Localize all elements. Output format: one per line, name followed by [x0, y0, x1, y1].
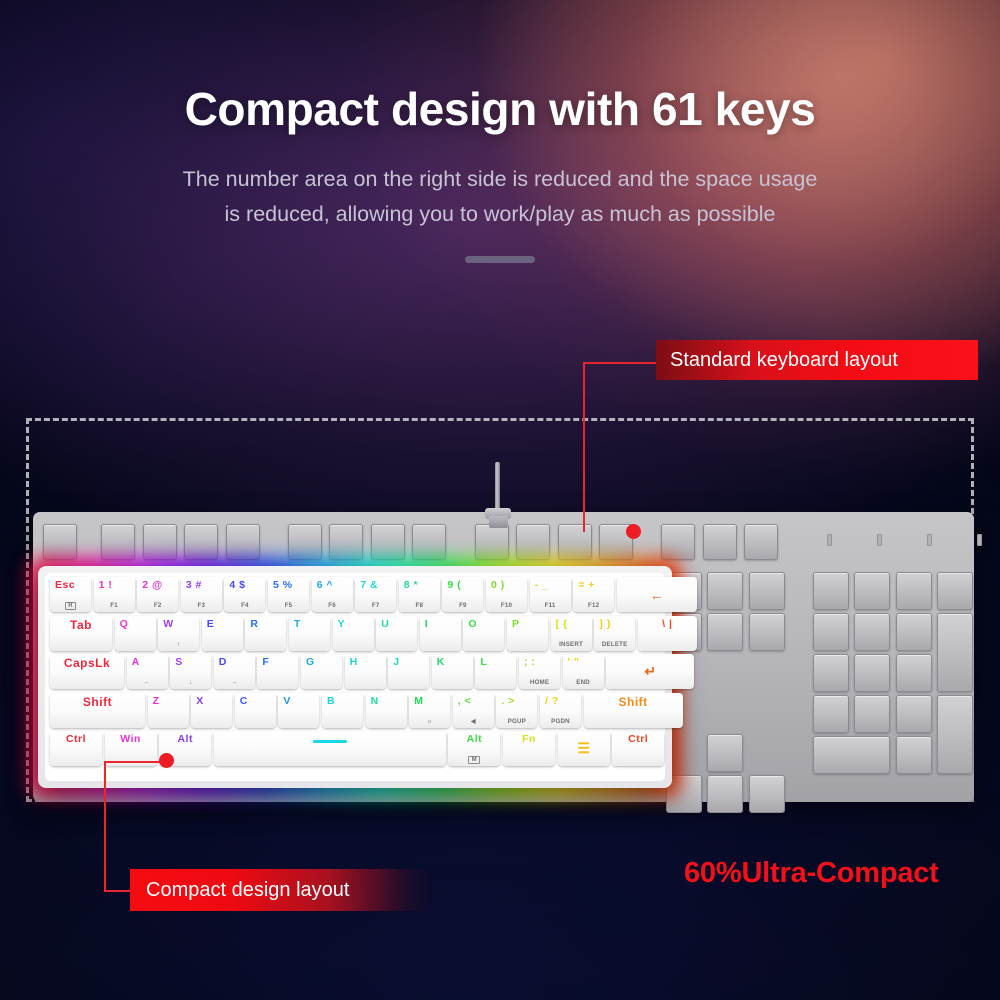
- fullsize-numpad-key: [813, 695, 849, 733]
- key-p[interactable]: P: [507, 616, 548, 651]
- key-legend: Fn: [503, 734, 555, 745]
- fullsize-numpad-key: [937, 695, 973, 774]
- key-d[interactable]: D→: [214, 654, 255, 689]
- page-title: Compact design with 61 keys: [0, 82, 1000, 136]
- spacebar-indicator: [313, 740, 347, 743]
- key-space[interactable]: ☰: [558, 731, 610, 766]
- key-sublegend: R: [50, 602, 91, 610]
- key-o[interactable]: O: [463, 616, 504, 651]
- key-6[interactable]: 6 ^F6: [312, 577, 353, 612]
- compact-keyboard-plate: EscR1 !F12 @F23 #F34 $F45 %F56 ^F67 &F78…: [45, 573, 665, 781]
- fullsize-numpad-key: [813, 736, 891, 774]
- key-f[interactable]: F: [257, 654, 298, 689]
- key-legend: Z: [153, 696, 160, 707]
- key-legend: Tab: [50, 619, 112, 632]
- subtitle-line-1: The number area on the right side is red…: [0, 162, 1000, 197]
- key-sublegend: HOME: [519, 679, 560, 686]
- leader-line-standard-horizontal: [583, 362, 657, 364]
- indicator-led: [977, 534, 982, 546]
- fullsize-numpad-key: [854, 654, 890, 692]
- key-capslk[interactable]: CapsLk: [50, 654, 124, 689]
- fullsize-nav-key: [749, 572, 785, 610]
- key-legend: N: [371, 696, 379, 707]
- callout-standard-keyboard-layout[interactable]: Standard keyboard layout: [656, 340, 978, 380]
- key-legend: P: [512, 619, 520, 630]
- fullsize-key: [412, 524, 446, 560]
- key-legend: X: [196, 696, 204, 707]
- leader-line-standard-vertical: [583, 362, 585, 532]
- fullsize-numpad-key: [854, 572, 890, 610]
- key-s[interactable]: S↓: [170, 654, 211, 689]
- key-legend: J: [393, 657, 399, 668]
- key-sublegend: INSERT: [551, 641, 592, 648]
- key-3[interactable]: 3 #F3: [181, 577, 222, 612]
- divider-pill: [465, 256, 535, 263]
- fullsize-key: [143, 524, 177, 560]
- leader-line-compact-vertical: [104, 761, 106, 892]
- key-space[interactable]: ↵: [606, 654, 694, 689]
- key-v[interactable]: V: [278, 693, 319, 728]
- header: Compact design with 61 keys The number a…: [0, 0, 1000, 263]
- fullsize-key: [184, 524, 218, 560]
- key-legend: 8 *: [404, 580, 418, 591]
- fullsize-numpad-key: [813, 613, 849, 651]
- key-e[interactable]: E: [202, 616, 243, 651]
- fullsize-numpad-key: [813, 654, 849, 692]
- fullsize-key: [558, 524, 592, 560]
- marker-dot-standard: [626, 524, 641, 539]
- key-legend: Ctrl: [612, 734, 664, 745]
- fullsize-key: [101, 524, 135, 560]
- key-sublegend: F11: [530, 602, 571, 609]
- key-u[interactable]: U: [376, 616, 417, 651]
- key-space[interactable]: [ {INSERT: [551, 616, 592, 651]
- key-legend: CapsLk: [50, 657, 124, 670]
- key-legend: [ {: [556, 619, 568, 630]
- key-space[interactable]: - _F11: [530, 577, 571, 612]
- key-fn[interactable]: Fn: [503, 731, 555, 766]
- key-w[interactable]: W↑: [158, 616, 199, 651]
- key-space[interactable]: \ |: [638, 616, 697, 651]
- key-0[interactable]: 0 )F10: [486, 577, 527, 612]
- key-m[interactable]: M☼: [409, 693, 450, 728]
- fullsize-key: [703, 524, 737, 560]
- key-space[interactable]: = +F12: [573, 577, 614, 612]
- key-n[interactable]: N: [366, 693, 407, 728]
- fullsize-nav-key: [707, 613, 743, 651]
- key-glyph: ↵: [606, 654, 694, 689]
- key-j[interactable]: J: [388, 654, 429, 689]
- key-legend: Shift: [584, 696, 683, 709]
- key-legend: I: [425, 619, 428, 630]
- marker-dot-compact: [159, 753, 174, 768]
- key-esc[interactable]: EscR: [50, 577, 91, 612]
- key-glyph: ☰: [558, 731, 610, 766]
- fullsize-nav-key: [707, 572, 743, 610]
- fullsize-numpad-key: [813, 572, 849, 610]
- key-legend: F: [262, 657, 269, 668]
- key-space[interactable]: ' "END: [563, 654, 604, 689]
- fullsize-nav-key: [749, 775, 785, 813]
- key-x[interactable]: X: [191, 693, 232, 728]
- fullsize-numpad-key: [896, 572, 932, 610]
- key-ctrl[interactable]: Ctrl: [50, 731, 102, 766]
- key-legend: S: [175, 657, 183, 668]
- leader-line-compact-horizontal-top: [104, 761, 166, 763]
- key-t[interactable]: T: [289, 616, 330, 651]
- key-sublegend: DELETE: [594, 641, 635, 648]
- key-legend: Win: [105, 734, 157, 745]
- key-legend: Shift: [50, 696, 145, 709]
- key-sublegend: F8: [399, 602, 440, 609]
- key-legend: \ |: [638, 619, 697, 630]
- key-legend: = +: [578, 580, 595, 591]
- key-legend: V: [283, 696, 291, 707]
- key-sublegend: ←: [127, 679, 168, 686]
- key-legend: E: [207, 619, 215, 630]
- key-legend: M: [414, 696, 423, 707]
- fullsize-nav-key: [707, 734, 743, 772]
- indicator-led: [827, 534, 832, 546]
- key-legend: C: [240, 696, 248, 707]
- key-ctrl[interactable]: Ctrl: [612, 731, 664, 766]
- key-sublegend: M: [448, 756, 500, 764]
- key-4[interactable]: 4 $F4: [224, 577, 265, 612]
- key-legend: Q: [120, 619, 129, 630]
- key-l[interactable]: L: [475, 654, 516, 689]
- subtitle: The number area on the right side is red…: [0, 162, 1000, 232]
- key-legend: ' ": [568, 657, 580, 668]
- key-1[interactable]: 1 !F1: [94, 577, 135, 612]
- key-sublegend: F5: [268, 602, 309, 609]
- fullsize-key: [288, 524, 322, 560]
- key-glyph: ←: [617, 577, 697, 612]
- key-legend: Y: [338, 619, 346, 630]
- key-y[interactable]: Y: [333, 616, 374, 651]
- key-legend: K: [437, 657, 445, 668]
- fullsize-key: [475, 524, 509, 560]
- fullsize-key: [371, 524, 405, 560]
- key-legend: W: [163, 619, 173, 630]
- key-8[interactable]: 8 *F8: [399, 577, 440, 612]
- key-legend: . >: [501, 696, 514, 707]
- fullsize-numpad-key: [896, 613, 932, 651]
- fullsize-key: [43, 524, 77, 560]
- key-sublegend: PGDN: [540, 718, 581, 725]
- key-a[interactable]: A←: [127, 654, 168, 689]
- key-sublegend: F4: [224, 602, 265, 609]
- indicator-led: [927, 534, 932, 546]
- key-legend: D: [219, 657, 227, 668]
- key-sublegend: F12: [573, 602, 614, 609]
- key-alt[interactable]: AltM: [448, 731, 500, 766]
- key-legend: - _: [535, 580, 549, 591]
- fullsize-key: [226, 524, 260, 560]
- key-2[interactable]: 2 @F2: [137, 577, 178, 612]
- indicator-led: [877, 534, 882, 546]
- key-legend: 9 (: [447, 580, 461, 591]
- key-legend: / ?: [545, 696, 559, 707]
- key-legend: 7 &: [360, 580, 378, 591]
- fullsize-nav-key: [749, 613, 785, 651]
- key-sublegend: F9: [442, 602, 483, 609]
- key-z[interactable]: Z: [148, 693, 189, 728]
- fullsize-numpad-key: [937, 613, 973, 692]
- key-sublegend: END: [563, 679, 604, 686]
- key-legend: 4 $: [229, 580, 245, 591]
- key-sublegend: F3: [181, 602, 222, 609]
- key-legend: R: [250, 619, 258, 630]
- key-sublegend: ↑: [158, 641, 199, 648]
- key-sublegend: ↓: [170, 679, 211, 686]
- key-legend: 0 ): [491, 580, 505, 591]
- key-legend: O: [468, 619, 477, 630]
- key-legend: Ctrl: [50, 734, 102, 745]
- subtitle-line-2: is reduced, allowing you to work/play as…: [0, 197, 1000, 232]
- key-legend: 5 %: [273, 580, 293, 591]
- key-legend: Alt: [448, 734, 500, 745]
- key-sublegend: PGUP: [496, 718, 537, 725]
- fullsize-key: [661, 524, 695, 560]
- key-h[interactable]: H: [345, 654, 386, 689]
- key-g[interactable]: G: [301, 654, 342, 689]
- key-legend: H: [350, 657, 358, 668]
- fullsize-key: [744, 524, 778, 560]
- ultra-compact-tagline: 60%Ultra-Compact: [684, 857, 939, 890]
- key-legend: Esc: [55, 580, 75, 591]
- key-k[interactable]: K: [432, 654, 473, 689]
- key-legend: , <: [458, 696, 471, 707]
- key-7[interactable]: 7 &F7: [355, 577, 396, 612]
- key-legend: U: [381, 619, 389, 630]
- key-legend: B: [327, 696, 335, 707]
- key-r[interactable]: R: [245, 616, 286, 651]
- key-tab[interactable]: Tab: [50, 616, 112, 651]
- key-space[interactable]: ] }DELETE: [594, 616, 635, 651]
- key-legend: T: [294, 619, 301, 630]
- key-sublegend: F7: [355, 602, 396, 609]
- key-legend: Alt: [159, 734, 211, 745]
- key-legend: 6 ^: [317, 580, 333, 591]
- fullsize-nav-key: [707, 775, 743, 813]
- key-space[interactable]: [214, 731, 446, 766]
- fullsize-key: [516, 524, 550, 560]
- fullsize-key: [329, 524, 363, 560]
- key-sublegend: →: [214, 679, 255, 686]
- fullsize-numpad-key: [854, 695, 890, 733]
- key-i[interactable]: I: [420, 616, 461, 651]
- key-space[interactable]: ←: [617, 577, 697, 612]
- key-b[interactable]: B: [322, 693, 363, 728]
- callout-compact-design-layout[interactable]: Compact design layout: [130, 869, 430, 911]
- key-legend: L: [480, 657, 487, 668]
- key-legend: ; :: [524, 657, 535, 668]
- callout-standard-label: Standard keyboard layout: [670, 349, 898, 372]
- key-5[interactable]: 5 %F5: [268, 577, 309, 612]
- fullsize-numpad-key: [896, 695, 932, 733]
- key-shift[interactable]: Shift: [50, 693, 145, 728]
- key-sublegend: F1: [94, 602, 135, 609]
- key-legend: A: [132, 657, 140, 668]
- callout-compact-label: Compact design layout: [146, 879, 349, 902]
- key-legend: ] }: [599, 619, 611, 630]
- key-space[interactable]: , <◀: [453, 693, 494, 728]
- key-legend: 2 @: [142, 580, 163, 591]
- key-sublegend: ◀: [453, 718, 494, 725]
- key-sublegend: F10: [486, 602, 527, 609]
- key-legend: G: [306, 657, 315, 668]
- key-space[interactable]: . >PGUP: [496, 693, 537, 728]
- key-space[interactable]: ; :HOME: [519, 654, 560, 689]
- usb-cable-collar-lower: [489, 516, 508, 528]
- key-legend: 1 !: [99, 580, 113, 591]
- fullsize-numpad-key: [896, 654, 932, 692]
- key-shift[interactable]: Shift: [584, 693, 683, 728]
- compact-keyboard-61key: EscR1 !F12 @F23 #F34 $F45 %F56 ^F67 &F78…: [38, 566, 672, 788]
- key-9[interactable]: 9 (F9: [442, 577, 483, 612]
- fullsize-numpad-key: [937, 572, 973, 610]
- key-sublegend: ☼: [409, 718, 450, 725]
- key-sublegend: F2: [137, 602, 178, 609]
- leader-line-compact-horizontal: [104, 890, 132, 892]
- key-legend: 3 #: [186, 580, 202, 591]
- key-c[interactable]: C: [235, 693, 276, 728]
- key-space[interactable]: / ?PGDN: [540, 693, 581, 728]
- key-q[interactable]: Q: [115, 616, 156, 651]
- fullsize-numpad-key: [854, 613, 890, 651]
- key-sublegend: F6: [312, 602, 353, 609]
- fullsize-numpad-key: [896, 736, 932, 774]
